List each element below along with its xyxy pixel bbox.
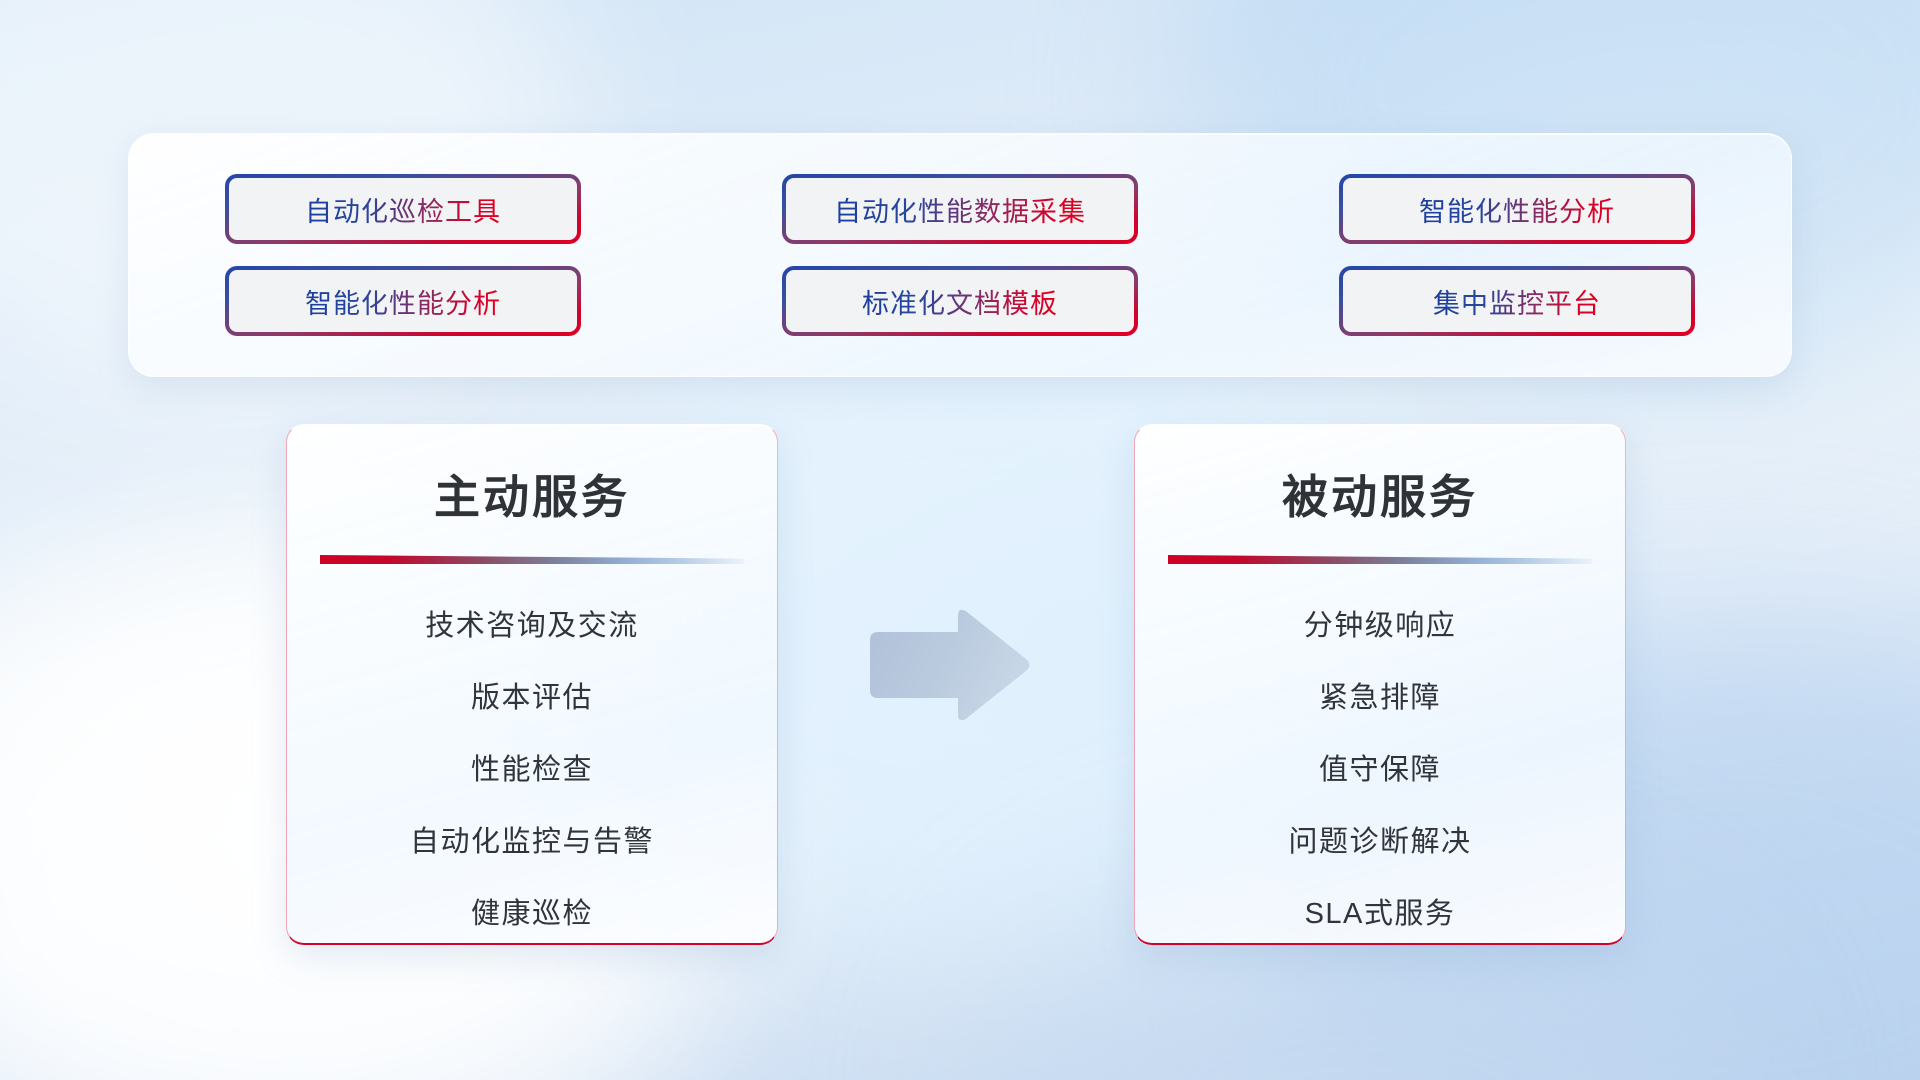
service-card-proactive[interactable]: 主动服务 技术咨询及交流 版本评估 性能检查 自动化监控与告警 健康巡检	[286, 424, 778, 945]
list-item: 紧急排障	[1319, 674, 1441, 716]
capability-chip-intelligent-performance-analysis-a[interactable]: 智能化性能分析	[1339, 174, 1695, 244]
service-item-list: 分钟级响应 紧急排障 值守保障 问题诊断解决 SLA式服务	[1135, 602, 1625, 932]
list-item: 问题诊断解决	[1288, 818, 1471, 860]
capability-panel: 自动化巡检工具 自动化性能数据采集 智能化性能分析 智能化性能分析 标准化文档模…	[128, 133, 1792, 377]
capability-chip-label: 集中监控平台	[1433, 282, 1601, 321]
list-item: 自动化监控与告警	[410, 818, 654, 860]
capability-chip-standardized-document-template[interactable]: 标准化文档模板	[782, 266, 1138, 336]
service-card-reactive[interactable]: 被动服务 分钟级响应 紧急排障 值守保障 问题诊断解决 SLA式服务	[1134, 424, 1626, 945]
list-item: 值守保障	[1319, 746, 1441, 788]
list-item: SLA式服务	[1305, 890, 1456, 932]
list-item: 健康巡检	[471, 890, 593, 932]
capability-chip-intelligent-performance-analysis-b[interactable]: 智能化性能分析	[225, 266, 581, 336]
service-card-title: 主动服务	[287, 461, 777, 527]
service-item-list: 技术咨询及交流 版本评估 性能检查 自动化监控与告警 健康巡检	[287, 602, 777, 932]
list-item: 技术咨询及交流	[425, 602, 639, 644]
arrow-right-icon	[866, 606, 1032, 724]
title-divider	[320, 555, 744, 564]
capability-row-2: 智能化性能分析 标准化文档模板 集中监控平台	[225, 266, 1695, 336]
list-item: 分钟级响应	[1304, 602, 1457, 644]
list-item: 性能检查	[471, 746, 593, 788]
service-card-title: 被动服务	[1135, 461, 1625, 527]
capability-chip-label: 智能化性能分析	[305, 282, 501, 321]
capability-chip-label: 标准化文档模板	[862, 282, 1058, 321]
capability-chip-label: 智能化性能分析	[1419, 190, 1615, 229]
capability-chip-automated-inspection-tool[interactable]: 自动化巡检工具	[225, 174, 581, 244]
capability-chip-automated-performance-data-collection[interactable]: 自动化性能数据采集	[782, 174, 1138, 244]
list-item: 版本评估	[471, 674, 593, 716]
capability-chip-centralized-monitoring-platform[interactable]: 集中监控平台	[1339, 266, 1695, 336]
slide-canvas: 自动化巡检工具 自动化性能数据采集 智能化性能分析 智能化性能分析 标准化文档模…	[0, 0, 1920, 1080]
capability-chip-label: 自动化性能数据采集	[834, 190, 1086, 229]
capability-chip-label: 自动化巡检工具	[305, 190, 501, 229]
title-divider	[1168, 555, 1592, 564]
capability-row-1: 自动化巡检工具 自动化性能数据采集 智能化性能分析	[225, 174, 1695, 244]
